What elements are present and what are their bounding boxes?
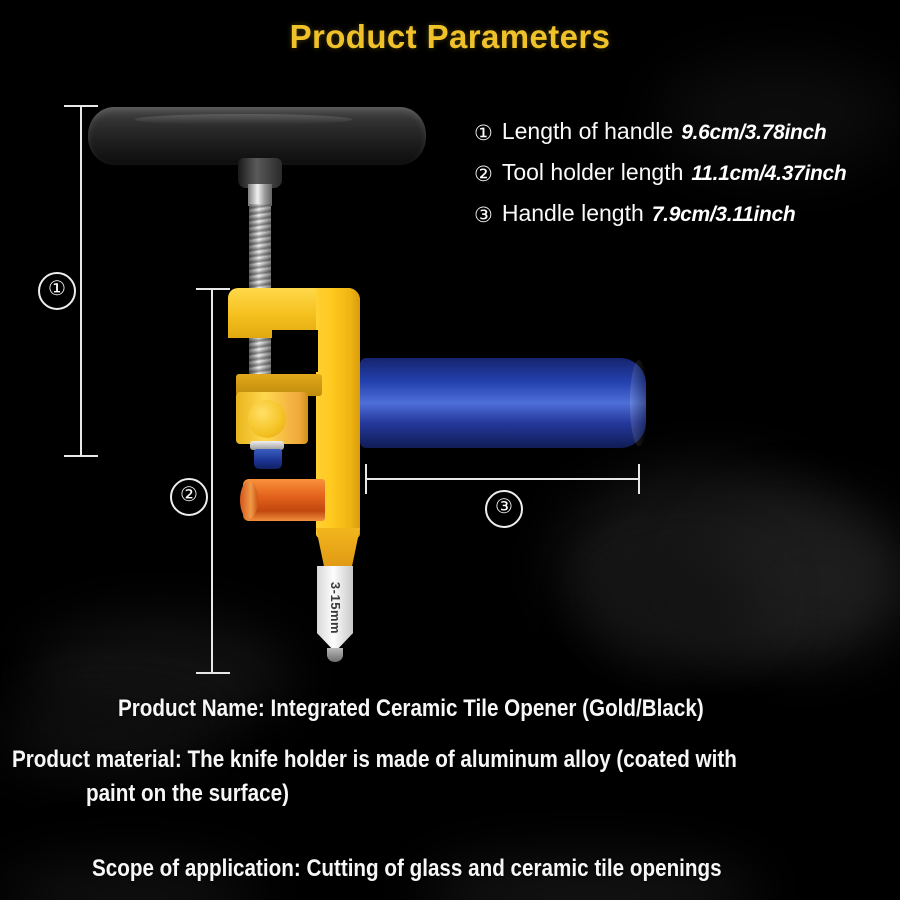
clamp-bottom-arm [236, 374, 322, 396]
dimension-line-3 [365, 478, 640, 480]
clamp-throat [272, 330, 318, 372]
parameter-row-1: ① Length of handle 9.6cm/3.78inch [474, 118, 894, 159]
parameter-marker-1: ① [474, 123, 493, 144]
dimension-line-2 [211, 288, 213, 672]
dimension-cap-1-top [64, 105, 98, 107]
blue-spacer-ring [254, 449, 282, 469]
parameter-marker-3: ③ [474, 205, 493, 226]
blue-grip-handle [360, 358, 646, 448]
page-title: Product Parameters [0, 18, 900, 56]
threaded-rod-lower [249, 338, 271, 390]
parameter-label-1: Length of handle [502, 118, 673, 145]
infographic-canvas: Product Parameters ① Length of handle 9.… [0, 0, 900, 900]
dimension-cap-1-bottom [64, 455, 98, 457]
knob-washer-part [250, 441, 284, 450]
t-handle-part [88, 107, 426, 165]
product-name-text: Product Name: Integrated Ceramic Tile Op… [118, 692, 900, 726]
parameter-value-3: 7.9cm/3.11inch [652, 203, 796, 227]
dimension-badge-2: ② [170, 478, 208, 516]
dimension-cap-2-top [196, 288, 230, 290]
gold-tapered-tip [316, 528, 360, 566]
orange-lever-cylinder [243, 479, 325, 521]
product-material-line-2: paint on the surface) [12, 777, 900, 811]
parameter-value-1: 9.6cm/3.78inch [681, 121, 826, 145]
cutting-blade [317, 566, 353, 652]
dimension-badge-3: ③ [485, 490, 523, 528]
dimension-cap-3-right [638, 464, 640, 494]
parameter-list: ① Length of handle 9.6cm/3.78inch ② Tool… [474, 118, 894, 241]
dimension-cap-2-bottom [196, 672, 230, 674]
parameter-row-3: ③ Handle length 7.9cm/3.11inch [474, 200, 894, 241]
parameter-value-2: 11.1cm/4.37inch [691, 162, 846, 186]
parameter-label-3: Handle length [502, 200, 644, 227]
clamp-spine [316, 288, 360, 538]
dimension-cap-3-left [365, 464, 367, 494]
blade-marking-label: 3-15mm [306, 578, 366, 638]
parameter-label-2: Tool holder length [502, 159, 684, 186]
clamp-top-arm [228, 288, 360, 338]
handle-collar-part [238, 158, 282, 188]
parameter-row-2: ② Tool holder length 11.1cm/4.37inch [474, 159, 894, 200]
adjustment-knob [248, 400, 286, 438]
scope-of-application-text: Scope of application: Cutting of glass a… [92, 852, 900, 886]
product-material-text: Product material: The knife holder is ma… [12, 743, 900, 811]
threaded-rod-upper [249, 204, 271, 292]
dimension-badge-1: ① [38, 272, 76, 310]
product-material-line-1: Product material: The knife holder is ma… [12, 746, 737, 773]
shank-part [248, 184, 272, 206]
parameter-marker-2: ② [474, 164, 493, 185]
knob-block-part [236, 392, 308, 444]
blade-wheel [327, 648, 343, 662]
dimension-line-1 [80, 105, 82, 457]
orange-cylinder-cap [240, 481, 258, 519]
